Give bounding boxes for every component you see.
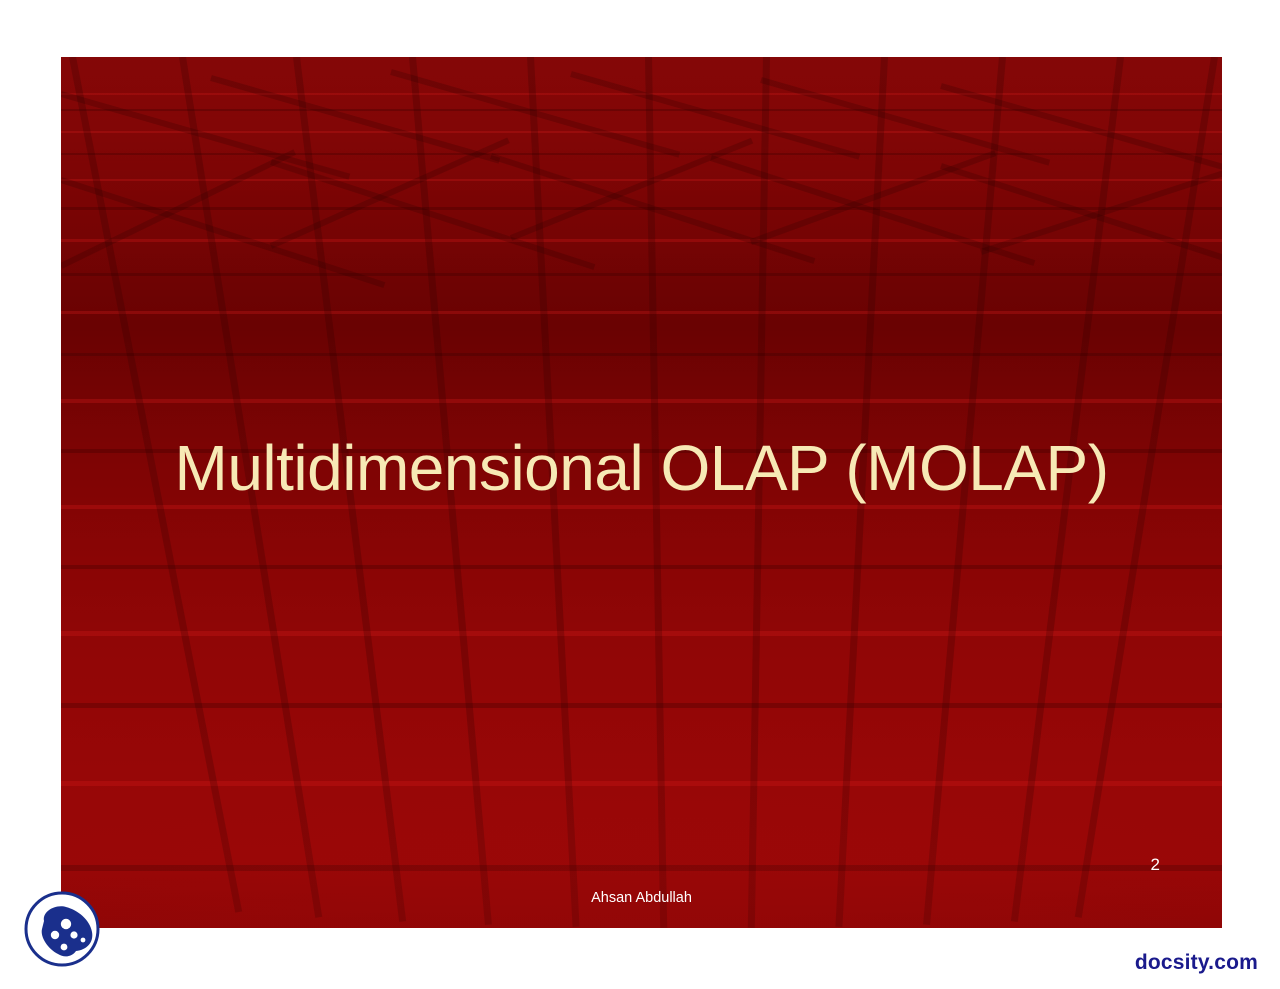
slide-footer-author: Ahsan Abdullah — [61, 889, 1222, 907]
presentation-slide: Multidimensional OLAP (MOLAP) 2 Ahsan Ab… — [61, 57, 1222, 928]
slide-title: Multidimensional OLAP (MOLAP) — [61, 429, 1222, 507]
slide-page-number: 2 — [1151, 855, 1160, 875]
docsity-circle-icon — [22, 887, 106, 971]
docsity-wordmark[interactable]: docsity.com — [1135, 950, 1258, 975]
docsity-logo[interactable] — [22, 887, 106, 971]
